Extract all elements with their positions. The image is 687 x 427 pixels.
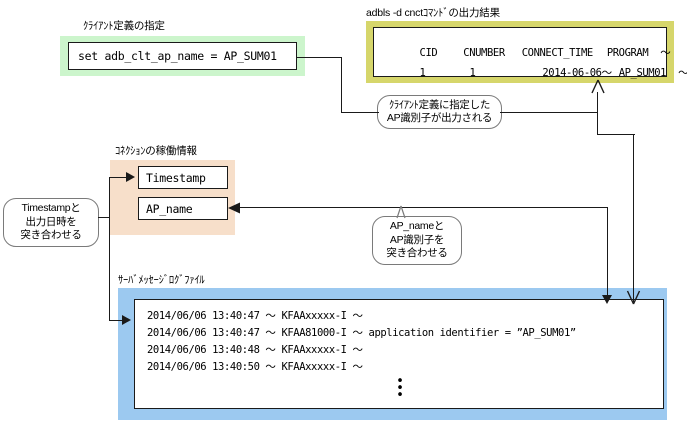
connector-timestamp-bottom-h <box>109 320 123 321</box>
diagram-canvas: ｸﾗｲｱﾝﾄ定義の指定 set adb_clt_ap_name = AP_SUM… <box>0 0 687 427</box>
connector-apname-v <box>607 207 608 300</box>
log-line: 2014/06/06 13:40:48 ～ KFAAxxxxx-I ～ <box>147 342 363 357</box>
callout-line: AP識別子が出力される <box>387 112 492 126</box>
arrow-down-to-log-solid-icon <box>602 295 612 304</box>
adbls-cell-connect-time: 2014-06-06～ <box>542 67 611 79</box>
connection-info-caption: ｺﾈｸｼｮﾝの稼働情報 <box>115 143 197 158</box>
field-apname-label: AP_name <box>146 202 192 216</box>
log-line: 2014/06/06 13:40:50 ～ KFAAxxxxx-I ～ <box>147 359 363 374</box>
arrow-up-to-adbls-icon <box>590 80 606 96</box>
adbls-cell-cid: 1 <box>420 67 426 79</box>
adbls-cell-more: ～ <box>678 67 687 79</box>
connector-timestamp-spine-v <box>109 177 110 321</box>
field-timestamp-box: Timestamp <box>138 166 228 189</box>
field-apname-box: AP_name <box>138 197 228 220</box>
adbls-cell-cnumber: 1 <box>469 67 475 79</box>
log-line: 2014/06/06 13:40:47 ～ KFAA81000-I ～ appl… <box>147 325 576 340</box>
callout-apname-tail-icon <box>394 206 408 220</box>
connector-adbls-down-v1 <box>597 112 598 135</box>
field-timestamp-label: Timestamp <box>146 171 206 185</box>
log-continuation-ellipsis: • • • <box>135 378 665 399</box>
adbls-cell-program: AP_SUM01 <box>619 67 666 79</box>
connector-adbls-down-h <box>597 134 635 135</box>
callout-line: ｸﾗｲｱﾝﾄ定義に指定した <box>389 99 490 113</box>
connector-adbls-down-v2 <box>633 134 634 302</box>
client-definition-caption: ｸﾗｲｱﾝﾄ定義の指定 <box>83 18 165 33</box>
callout-line: AP識別子を <box>390 234 444 248</box>
connector-timestamp-top-h <box>109 177 127 178</box>
callout-ap-identifier-output: ｸﾗｲｱﾝﾄ定義に指定した AP識別子が出力される <box>377 95 502 129</box>
connector-callout-to-adbls-h <box>500 112 598 113</box>
arrow-down-to-log-thin-icon <box>626 290 642 306</box>
log-line: 2014/06/06 13:40:47 ～ KFAAxxxxx-I ～ <box>147 308 363 323</box>
adbls-output-caption: adbls -d cnctｺﾏﾝﾄﾞの出力結果 <box>366 5 500 20</box>
callout-line: 突き合わせる <box>20 229 81 243</box>
callout-timestamp-match: Timestampと 出力日時を 突き合わせる <box>3 198 99 247</box>
client-definition-statement-box: set adb_clt_ap_name = AP_SUM01 <box>68 42 297 70</box>
arrow-right-to-timestamp-icon <box>126 172 135 182</box>
table-row: 112014-06-06～AP_SUM01～ <box>384 53 687 92</box>
connector-clientdef-h2 <box>341 112 379 113</box>
callout-line: 出力日時を <box>26 216 77 230</box>
client-definition-statement: set adb_clt_ap_name = AP_SUM01 <box>78 49 277 63</box>
server-log-box: 2014/06/06 13:40:47 ～ KFAAxxxxx-I ～ 2014… <box>134 299 664 409</box>
callout-line: AP_nameと <box>390 220 444 234</box>
connector-clientdef-h1 <box>297 57 342 58</box>
connector-clientdef-v <box>341 57 342 113</box>
callout-apname-match: AP_nameと AP識別子を 突き合わせる <box>372 216 462 265</box>
adbls-output-table-box: CIDCNUMBERCONNECT_TIMEPROGRAM～ 112014-06… <box>373 27 667 77</box>
callout-line: 突き合わせる <box>386 247 447 261</box>
connector-apname-h <box>239 207 608 208</box>
server-log-caption: ｻｰﾊﾞﾒｯｾｰｼﾞﾛｸﾞﾌｧｲﾙ <box>118 272 204 287</box>
callout-line: Timestampと <box>21 202 80 216</box>
arrow-right-to-log-icon <box>122 315 131 325</box>
